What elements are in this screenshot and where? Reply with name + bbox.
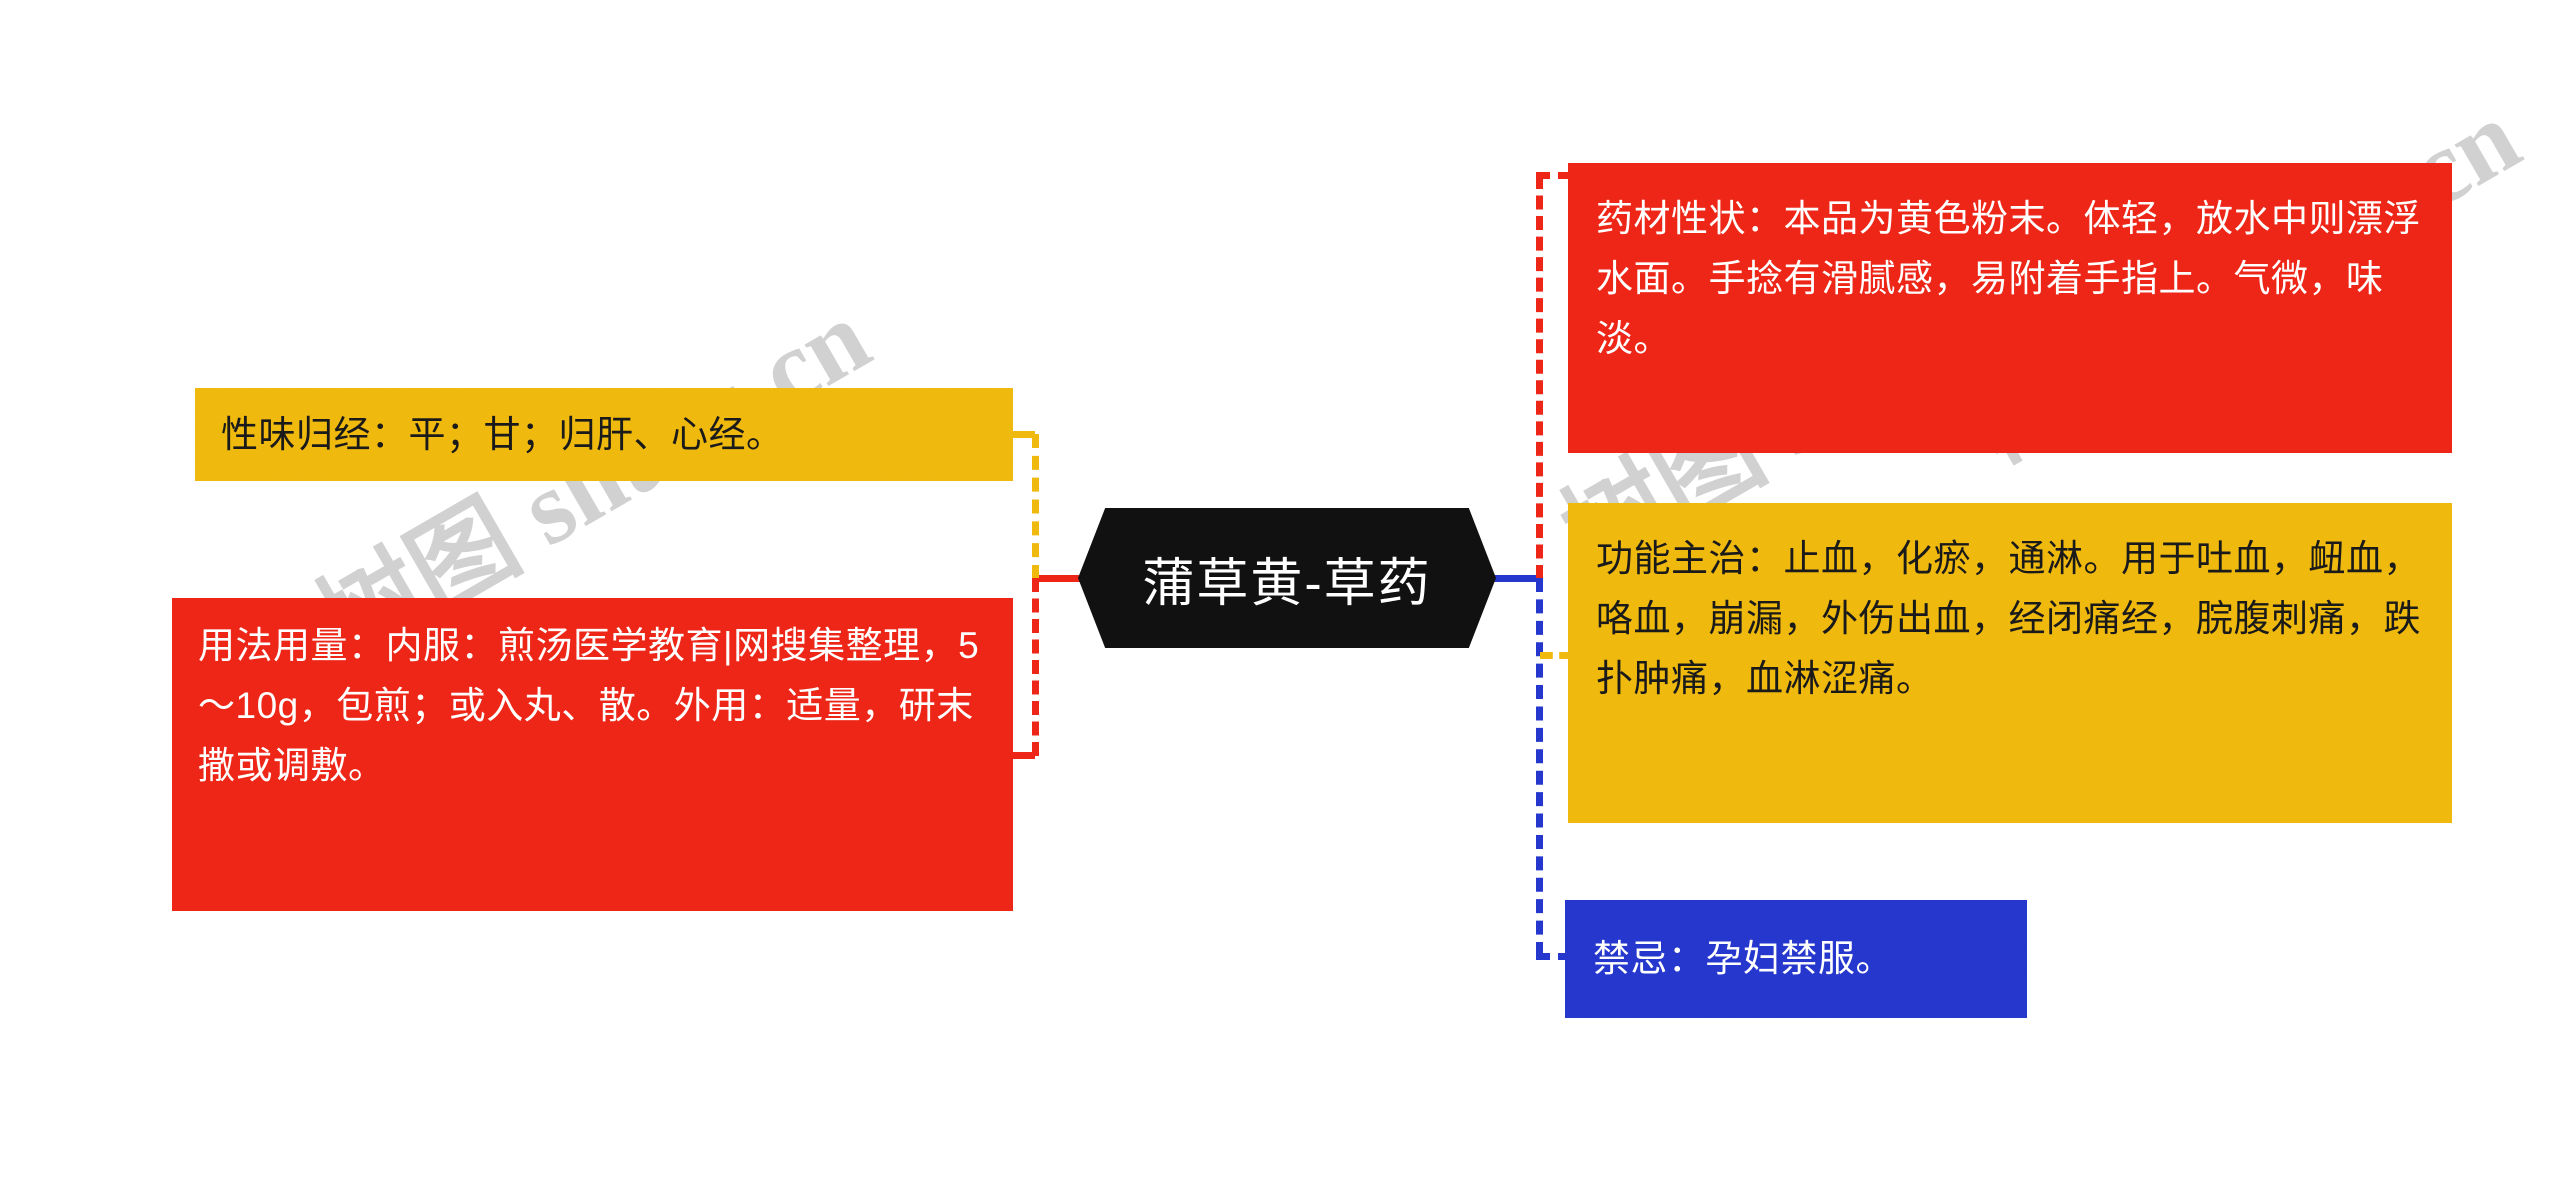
connector-trunk-right-down bbox=[1536, 578, 1543, 956]
node-nature-meridian-label: 性味归经：平；甘；归肝、心经。 bbox=[221, 405, 987, 465]
connector-trunk-right-up bbox=[1536, 175, 1543, 579]
center-node-label: 蒲草黄-草药 bbox=[1142, 541, 1431, 616]
node-taboo-label: 禁忌：孕妇禁服。 bbox=[1593, 929, 1999, 989]
node-function-indication-label: 功能主治：止血，化瘀，通淋。用于吐血，衄血，咯血，崩漏，外伤出血，经闭痛经，脘腹… bbox=[1596, 529, 2424, 709]
node-taboo[interactable]: 禁忌：孕妇禁服。 bbox=[1565, 900, 2027, 1018]
connector-trunk-left-up bbox=[1032, 434, 1039, 579]
node-dosage[interactable]: 用法用量：内服：煎汤医学教育|网搜集整理，5～10g，包煎；或入丸、散。外用：适… bbox=[172, 598, 1013, 911]
center-node[interactable]: 蒲草黄-草药 bbox=[1078, 508, 1496, 648]
connector-trunk-left-down bbox=[1032, 578, 1039, 756]
node-medicinal-property-label: 药材性状：本品为黄色粉末。体轻，放水中则漂浮水面。手捻有滑腻感，易附着手指上。气… bbox=[1596, 189, 2424, 369]
node-function-indication[interactable]: 功能主治：止血，化瘀，通淋。用于吐血，衄血，咯血，崩漏，外伤出血，经闭痛经，脘腹… bbox=[1568, 503, 2452, 823]
node-medicinal-property[interactable]: 药材性状：本品为黄色粉末。体轻，放水中则漂浮水面。手捻有滑腻感，易附着手指上。气… bbox=[1568, 163, 2452, 453]
node-nature-meridian[interactable]: 性味归经：平；甘；归肝、心经。 bbox=[195, 388, 1013, 481]
node-dosage-label: 用法用量：内服：煎汤医学教育|网搜集整理，5～10g，包煎；或入丸、散。外用：适… bbox=[198, 616, 987, 796]
mindmap-canvas: 树图 shutu.cn 树图 shutu.cn 树图 shutu.cn 性味归经… bbox=[0, 0, 2560, 1182]
connector-branch-property bbox=[1536, 172, 1572, 179]
